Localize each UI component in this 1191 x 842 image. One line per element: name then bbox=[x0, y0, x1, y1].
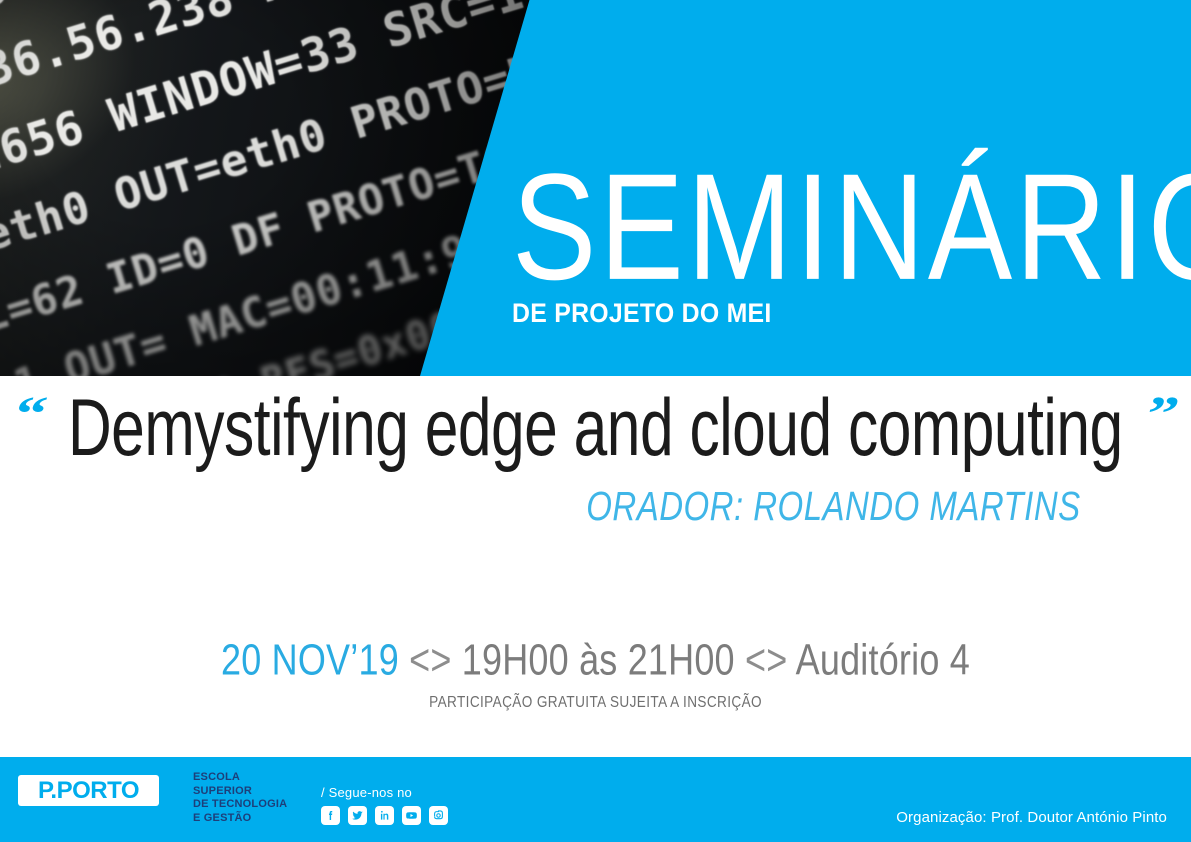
social-links bbox=[321, 806, 448, 825]
registration-note-text: PARTICIPAÇÃO GRATUITA SUJEITA A INSCRIÇÃ… bbox=[429, 692, 762, 710]
school-line: ESCOLA bbox=[193, 771, 287, 785]
instagram-icon[interactable] bbox=[429, 806, 448, 825]
pporto-logo-text: P.PORTO bbox=[18, 775, 159, 806]
follow-us-label: / Segue-nos no bbox=[321, 785, 448, 800]
school-name: ESCOLA SUPERIOR DE TECNOLOGIA E GESTÃO bbox=[193, 771, 287, 825]
registration-note: PARTICIPAÇÃO GRATUITA SUJEITA A INSCRIÇÃ… bbox=[0, 692, 1191, 708]
school-line: SUPERIOR bbox=[193, 785, 287, 799]
follow-us-block: / Segue-nos no bbox=[321, 785, 448, 825]
school-line: DE TECNOLOGIA bbox=[193, 798, 287, 812]
headline-row: “Demystifying edge and cloud computing” bbox=[0, 392, 1191, 464]
talk-title: Demystifying edge and cloud computing bbox=[68, 382, 1123, 474]
pporto-logo: P.PORTO bbox=[18, 775, 159, 806]
organization-credit: Organização: Prof. Doutor António Pinto bbox=[896, 809, 1167, 826]
youtube-icon[interactable] bbox=[402, 806, 421, 825]
hero-banner: IN=eth1 OUT= MAC=00:11 LEN=60 =193.136.5… bbox=[0, 0, 1191, 376]
speaker-line: ORADOR: ROLANDO MARTINS bbox=[587, 484, 1081, 531]
event-time: 19H00 às 21H00 bbox=[462, 634, 735, 684]
event-venue: Auditório 4 bbox=[796, 634, 970, 684]
seminar-poster: IN=eth1 OUT= MAC=00:11 LEN=60 =193.136.5… bbox=[0, 0, 1191, 842]
facebook-icon[interactable] bbox=[321, 806, 340, 825]
page-subtitle: DE PROJETO DO MEI bbox=[512, 298, 772, 329]
event-date: 20 NOV’19 bbox=[221, 634, 399, 684]
page-title: SEMINÁRIO bbox=[512, 152, 1191, 303]
footer-bar: P.PORTO ESCOLA SUPERIOR DE TECNOLOGIA E … bbox=[0, 757, 1191, 842]
event-details-line: 20 NOV’19 <> 19H00 às 21H00 <> Auditório… bbox=[0, 634, 1191, 676]
linkedin-icon[interactable] bbox=[375, 806, 394, 825]
twitter-icon[interactable] bbox=[348, 806, 367, 825]
school-line: E GESTÃO bbox=[193, 812, 287, 826]
detail-separator: <> bbox=[409, 634, 451, 684]
detail-separator: <> bbox=[745, 634, 787, 684]
